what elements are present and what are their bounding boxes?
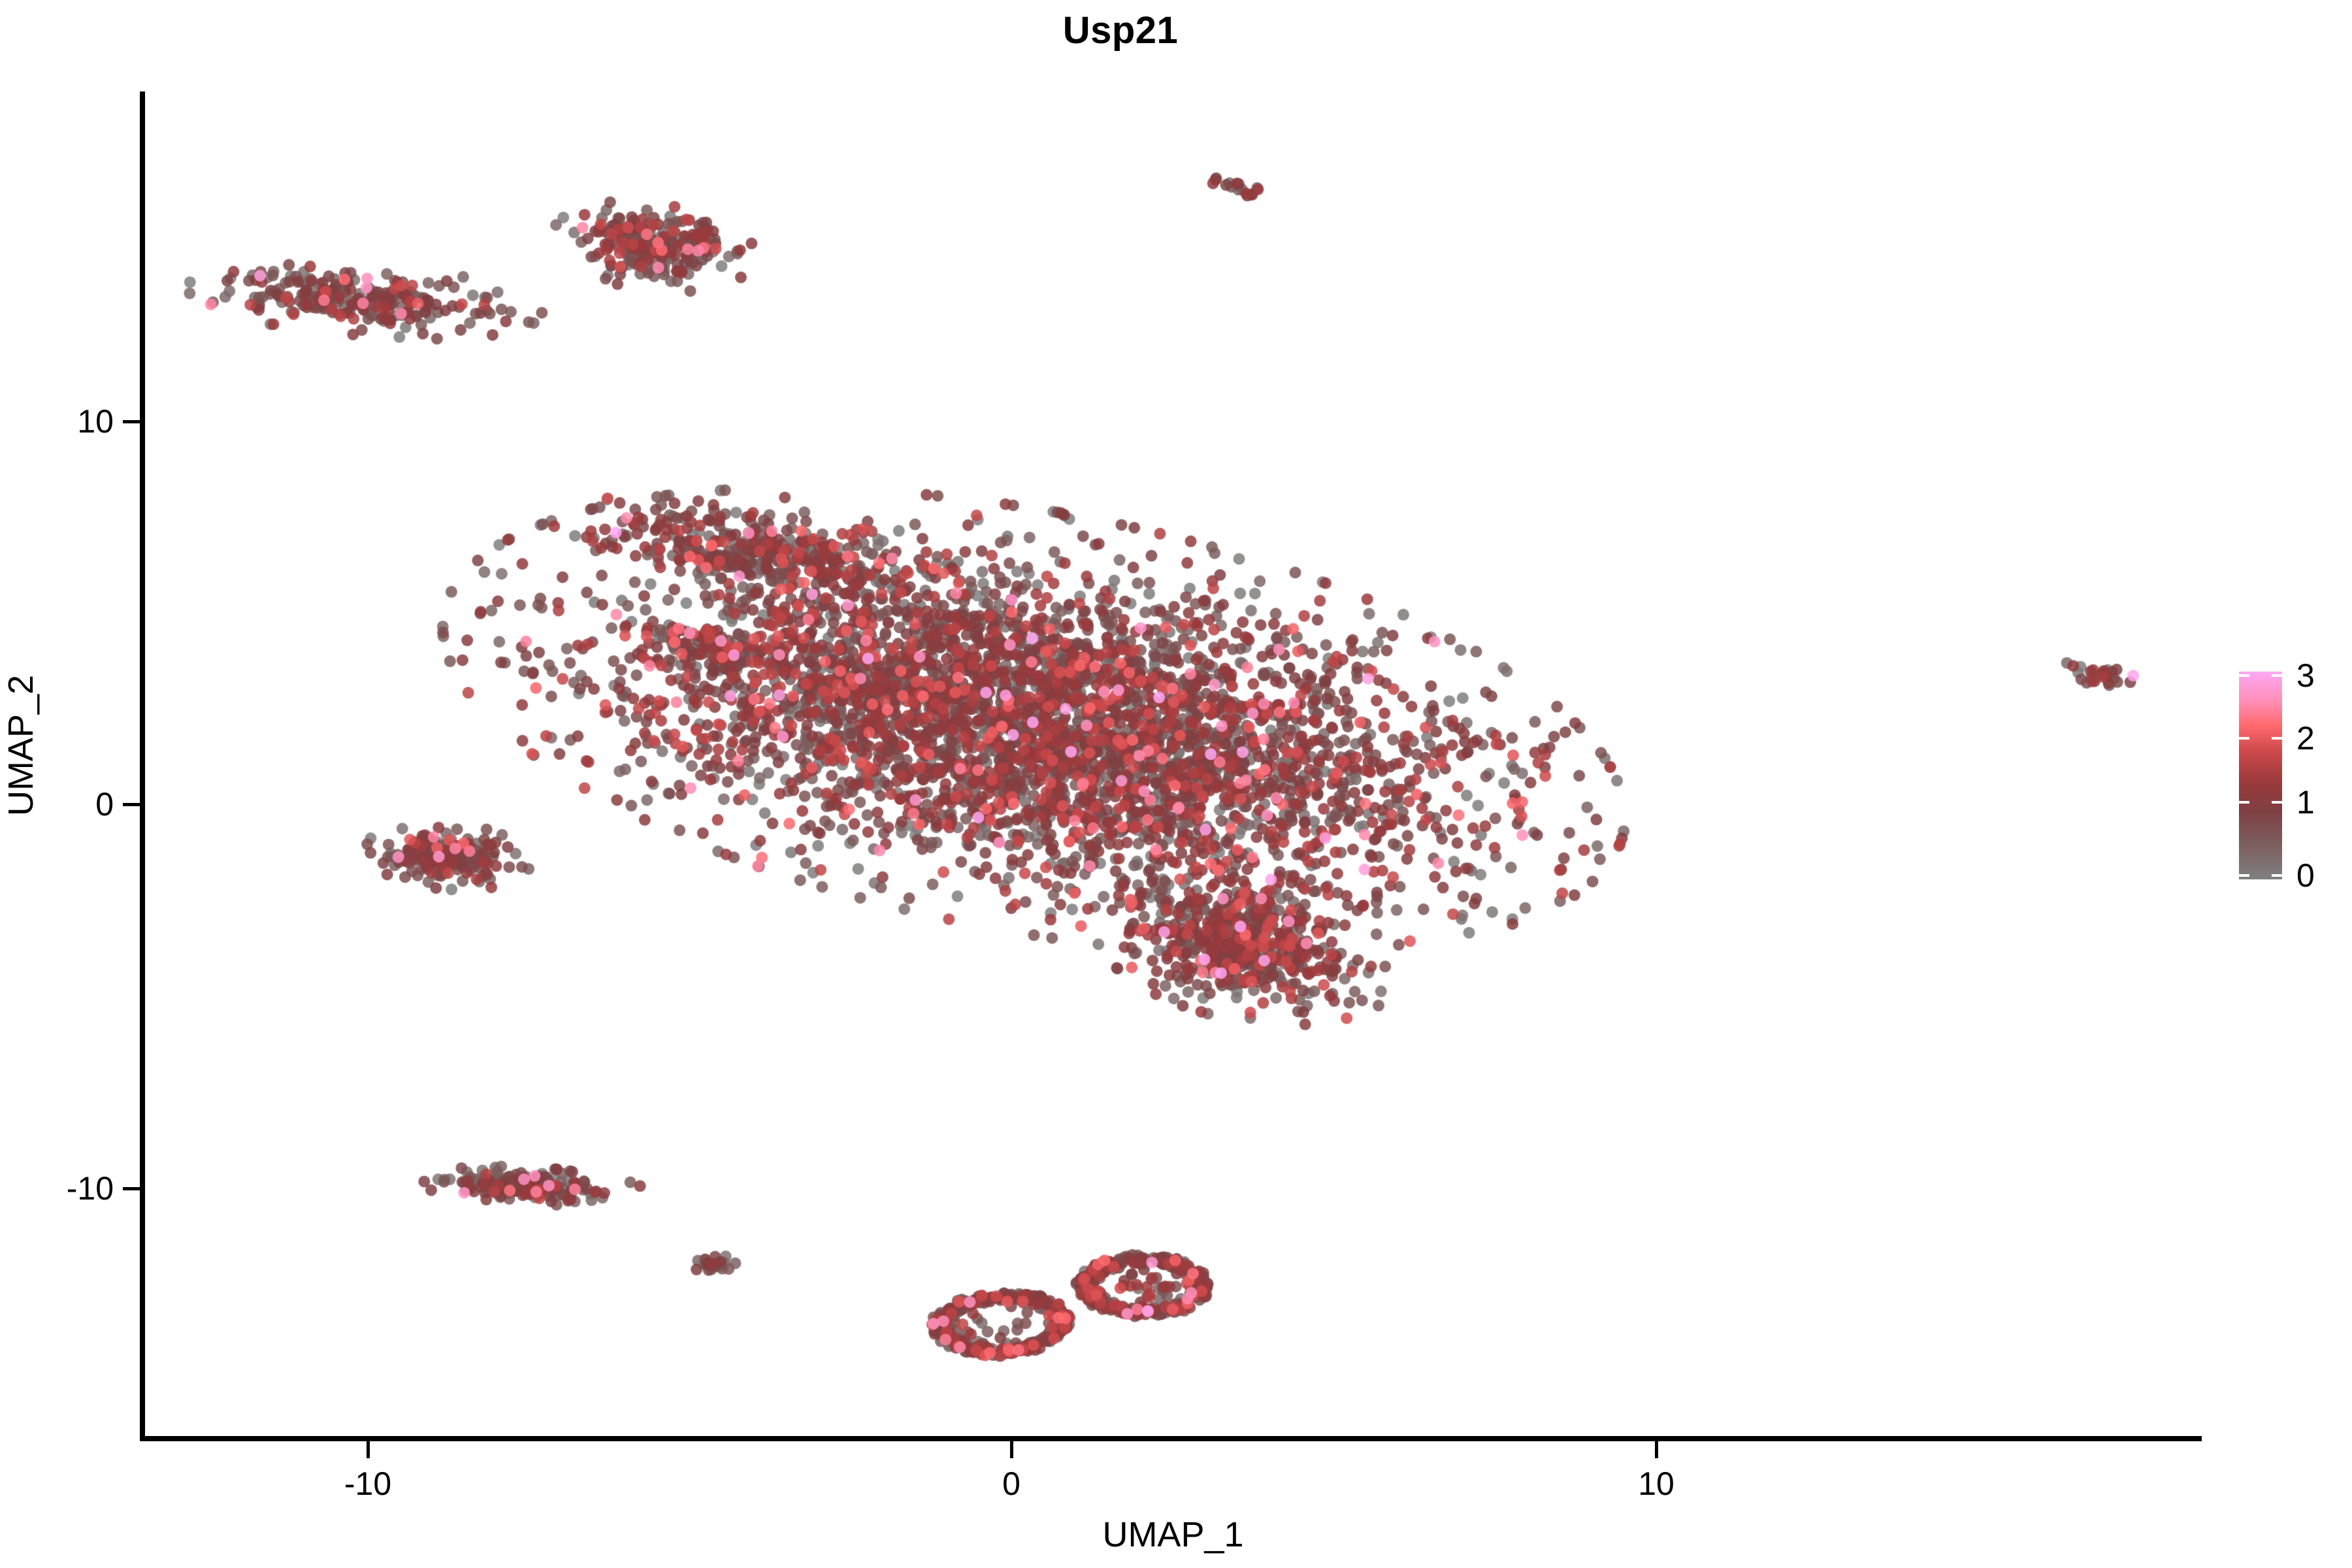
colorbar-tick-3-left xyxy=(2239,674,2249,677)
colorbar-tick-1-right xyxy=(2272,801,2282,804)
colorbar-label-1: 1 xyxy=(2296,783,2315,821)
colorbar-legend: 3 2 1 0 xyxy=(2239,672,2337,887)
colorbar-gradient xyxy=(2239,672,2282,879)
y-tick-mark-neg10 xyxy=(123,1187,140,1190)
colorbar-label-0: 0 xyxy=(2296,857,2315,894)
x-axis-line xyxy=(140,1436,2202,1441)
colorbar-tick-1-left xyxy=(2239,801,2249,804)
y-tick-label-neg10: -10 xyxy=(67,1169,114,1207)
y-tick-label-0: 0 xyxy=(95,785,114,823)
page-title: Usp21 xyxy=(0,12,2241,50)
x-tick-label-neg10: -10 xyxy=(344,1465,391,1503)
y-axis-line xyxy=(140,91,145,1441)
colorbar-tick-0-right xyxy=(2272,874,2282,877)
y-axis-title: UMAP_2 xyxy=(1,549,41,941)
colorbar-tick-3-right xyxy=(2272,674,2282,677)
x-tick-mark-0 xyxy=(1010,1441,1013,1458)
feature-plot-root: Usp21 -10 0 10 10 0 -10 UMAP_1 UMAP_2 3 … xyxy=(0,0,2352,1568)
x-tick-mark-10 xyxy=(1655,1441,1658,1458)
x-tick-mark-neg10 xyxy=(367,1441,370,1458)
y-tick-mark-0 xyxy=(123,803,140,806)
scatter-points-canvas xyxy=(144,91,2202,1439)
colorbar-tick-2-right xyxy=(2272,737,2282,740)
scatter-plot-panel xyxy=(144,91,2202,1439)
colorbar-tick-2-left xyxy=(2239,737,2249,740)
y-tick-mark-10 xyxy=(123,420,140,423)
colorbar-label-2: 2 xyxy=(2296,719,2315,757)
colorbar-tick-0-left xyxy=(2239,874,2249,877)
x-tick-label-0: 0 xyxy=(1002,1465,1021,1503)
x-axis-title: UMAP_1 xyxy=(144,1514,2202,1555)
colorbar-label-3: 3 xyxy=(2296,657,2315,694)
y-tick-label-10: 10 xyxy=(77,402,114,440)
x-tick-label-10: 10 xyxy=(1638,1465,1674,1503)
